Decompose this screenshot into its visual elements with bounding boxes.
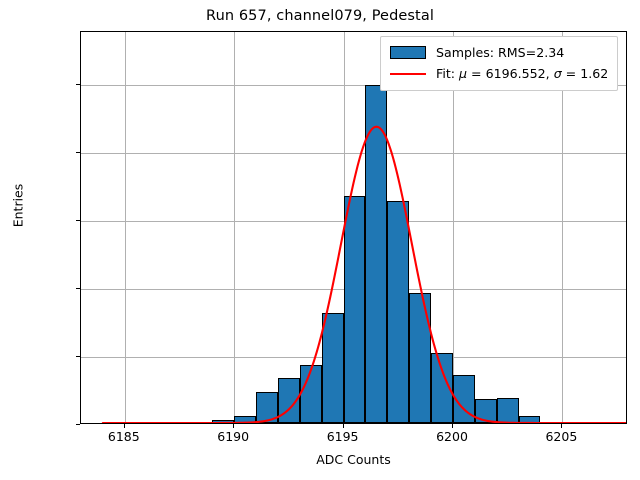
figure-canvas: Run 657, channel079, Pedestal 6185619061… xyxy=(0,0,640,480)
x-tick-label: 6205 xyxy=(545,429,577,444)
y-tick-mark xyxy=(76,288,80,289)
x-tick-label: 6195 xyxy=(327,429,359,444)
page-title: Run 657, channel079, Pedestal xyxy=(0,8,640,24)
x-tick-label: 6200 xyxy=(436,429,468,444)
y-tick-mark xyxy=(76,424,80,425)
legend: Samples: RMS=2.34 Fit: μ = 6196.552, σ =… xyxy=(380,36,618,91)
y-tick-mark xyxy=(76,152,80,153)
x-tick-mark xyxy=(561,424,562,428)
x-tick-mark xyxy=(233,424,234,428)
legend-line-icon xyxy=(389,66,427,82)
x-tick-label: 6190 xyxy=(217,429,249,444)
x-tick-mark xyxy=(343,424,344,428)
y-tick-mark xyxy=(76,84,80,85)
x-axis-label: ADC Counts xyxy=(80,452,627,467)
y-tick-mark xyxy=(76,356,80,357)
x-tick-mark xyxy=(452,424,453,428)
y-tick-mark xyxy=(76,220,80,221)
legend-item-samples: Samples: RMS=2.34 xyxy=(389,42,609,63)
legend-item-fit: Fit: μ = 6196.552, σ = 1.62 xyxy=(389,63,609,84)
legend-label-samples: Samples: RMS=2.34 xyxy=(436,45,564,60)
legend-label-fit: Fit: μ = 6196.552, σ = 1.62 xyxy=(436,66,608,81)
x-tick-label: 6185 xyxy=(108,429,140,444)
legend-patch-icon xyxy=(389,45,427,61)
y-axis-label: Entries xyxy=(11,126,26,286)
x-tick-mark xyxy=(124,424,125,428)
